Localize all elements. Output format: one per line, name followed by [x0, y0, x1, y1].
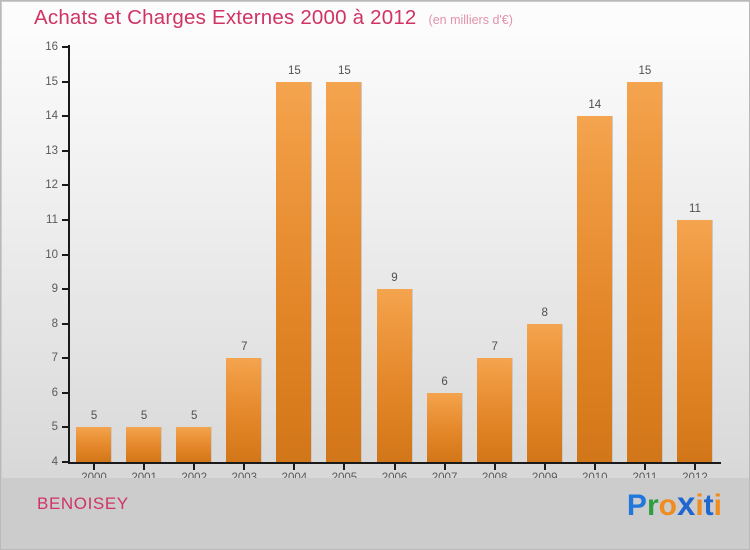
x-axis-tick — [343, 464, 345, 470]
x-axis-tick — [444, 464, 446, 470]
x-axis-tick — [193, 464, 195, 470]
bar-2002[interactable] — [176, 427, 212, 462]
bar-value-label-2003: 7 — [241, 341, 247, 353]
y-axis-tick — [62, 323, 70, 325]
bar-2012[interactable] — [677, 220, 713, 462]
bar-value-label-2004: 15 — [288, 65, 301, 77]
x-axis-tick — [544, 464, 546, 470]
logo-letter-x: x — [677, 487, 695, 520]
x-axis-tick — [143, 464, 145, 470]
logo-letter-o: o — [659, 491, 677, 521]
bar-2005[interactable] — [326, 82, 362, 462]
y-axis-tick-label: 10 — [12, 249, 58, 261]
y-axis-tick-label: 7 — [12, 352, 58, 364]
bar-2006[interactable] — [377, 289, 413, 462]
bar-value-label-2005: 15 — [338, 65, 351, 77]
y-axis-tick-label: 16 — [12, 41, 58, 53]
bar-value-label-2001: 5 — [141, 410, 147, 422]
x-axis-tick — [594, 464, 596, 470]
bar-2000[interactable] — [76, 427, 112, 462]
x-axis-tick — [694, 464, 696, 470]
y-axis-tick — [62, 288, 70, 290]
bar-value-label-2008: 7 — [491, 341, 497, 353]
logo-letter-r: r — [647, 491, 659, 521]
y-axis-tick-label: 15 — [12, 76, 58, 88]
bar-2001[interactable] — [126, 427, 162, 462]
y-axis-tick-label: 13 — [12, 145, 58, 157]
x-axis-tick — [293, 464, 295, 470]
y-axis-tick-label: 12 — [12, 179, 58, 191]
x-axis-tick — [644, 464, 646, 470]
bar-2010[interactable] — [577, 116, 613, 462]
y-axis-tick-label: 9 — [12, 283, 58, 295]
y-axis-tick — [62, 115, 70, 117]
logo-letter-i-first: i — [695, 491, 703, 521]
bar-value-label-2000: 5 — [91, 410, 97, 422]
title-row: Achats et Charges Externes 2000 à 2012 (… — [34, 6, 513, 30]
page-title: Achats et Charges Externes 2000 à 2012 — [34, 6, 417, 30]
bar-value-label-2002: 5 — [191, 410, 197, 422]
y-axis-tick — [62, 426, 70, 428]
chart-plot-region: 45678910111213141516 2000200120022003200… — [2, 38, 750, 478]
y-axis-tick-label: 6 — [12, 387, 58, 399]
y-axis-tick — [62, 150, 70, 152]
bar-value-label-2009: 8 — [542, 307, 548, 319]
proxiti-logo[interactable]: Proxiti — [627, 487, 722, 521]
bar-2003[interactable] — [226, 358, 262, 462]
chart-footer: BENOISEY Proxiti — [2, 478, 750, 549]
logo-letter-p: P — [627, 491, 647, 521]
y-axis-tick-label: 14 — [12, 110, 58, 122]
bar-value-label-2010: 14 — [588, 99, 601, 111]
x-axis-tick — [494, 464, 496, 470]
x-axis-tick — [394, 464, 396, 470]
y-axis-tick — [62, 392, 70, 394]
x-axis-tick — [243, 464, 245, 470]
chart-header: Achats et Charges Externes 2000 à 2012 (… — [2, 2, 750, 38]
entity-name-label: BENOISEY — [37, 494, 129, 514]
y-axis-tick — [62, 184, 70, 186]
y-axis-tick — [62, 461, 70, 463]
chart-unit-subtitle: (en milliers d'€) — [429, 13, 513, 27]
logo-letter-t: t — [704, 491, 714, 521]
x-axis-tick — [93, 464, 95, 470]
y-axis-tick-label: 4 — [12, 456, 58, 468]
y-axis-tick — [62, 46, 70, 48]
y-axis-tick — [62, 357, 70, 359]
y-axis-tick — [62, 219, 70, 221]
bar-2007[interactable] — [427, 393, 463, 462]
y-axis-tick-label: 11 — [12, 214, 58, 226]
bar-value-label-2007: 6 — [441, 376, 447, 388]
bar-2011[interactable] — [627, 82, 663, 462]
bar-2008[interactable] — [477, 358, 513, 462]
bar-value-label-2012: 11 — [689, 203, 701, 215]
y-axis-tick — [62, 254, 70, 256]
y-axis-tick — [62, 81, 70, 83]
chart-page: Achats et Charges Externes 2000 à 2012 (… — [0, 0, 750, 550]
bar-value-label-2006: 9 — [391, 272, 397, 284]
bar-2009[interactable] — [527, 324, 563, 462]
bar-2004[interactable] — [276, 82, 312, 462]
y-axis-tick-label: 5 — [12, 421, 58, 433]
bar-value-label-2011: 15 — [638, 65, 651, 77]
y-axis-tick-label: 8 — [12, 318, 58, 330]
logo-letter-i-second: i — [714, 491, 722, 521]
